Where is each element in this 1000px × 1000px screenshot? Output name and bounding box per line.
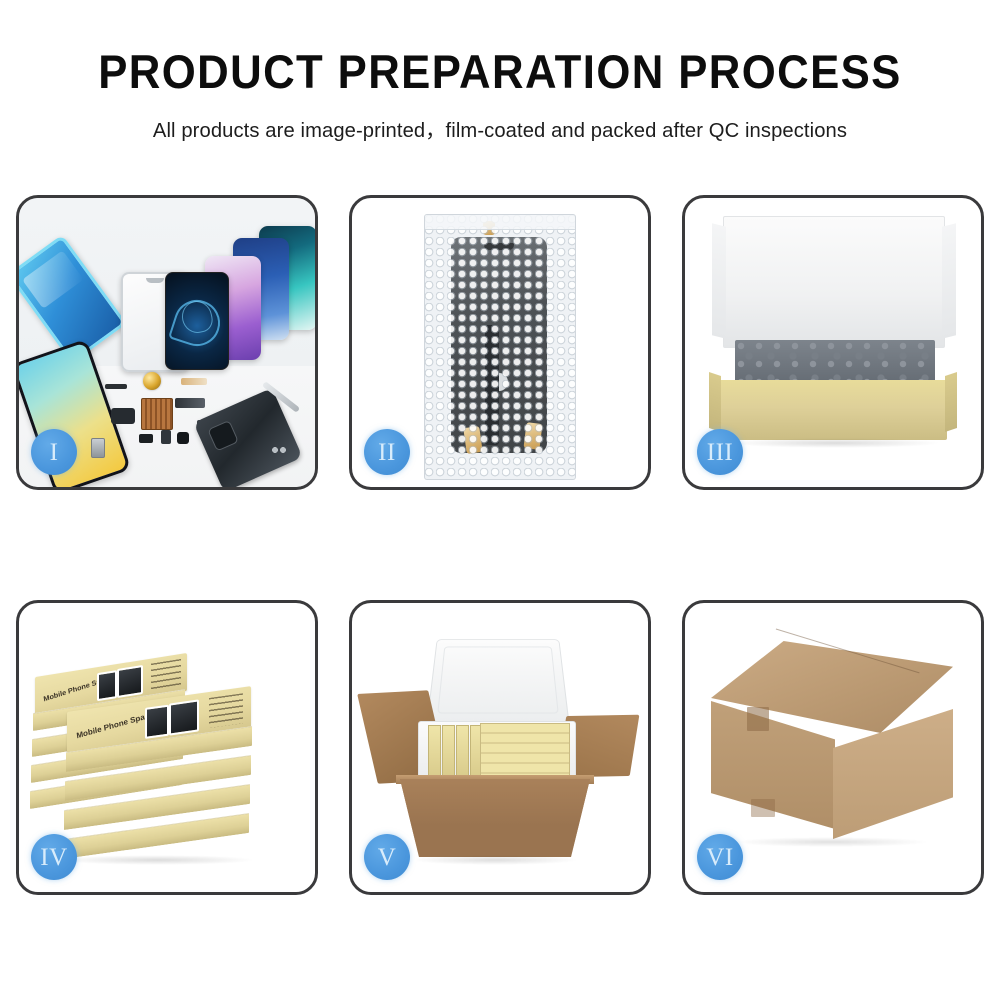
step-badge-4: IV xyxy=(31,834,77,880)
part-flex-cable-dark xyxy=(175,398,205,408)
yellow-box-1 xyxy=(428,725,441,781)
process-step-card-1[interactable]: I xyxy=(16,195,318,490)
process-step-card-3[interactable]: III xyxy=(682,195,984,490)
process-steps-grid: I II xyxy=(16,195,984,895)
box-shadow xyxy=(729,438,941,448)
process-step-card-5[interactable]: V xyxy=(349,600,651,895)
page-subtitle: All products are image-printed，film-coat… xyxy=(8,113,993,143)
box-checklist-lines-right xyxy=(209,693,243,728)
step-badge-6: VI xyxy=(697,834,743,880)
part-camera-module xyxy=(177,432,189,444)
bubble-texture xyxy=(425,215,575,479)
box-screen-image-c xyxy=(145,705,169,739)
page-title: PRODUCT PREPARATION PROCESS xyxy=(35,48,965,95)
process-step-card-4[interactable]: Mobile Phone Spare Parts Mobile Phone Sp… xyxy=(16,600,318,895)
step-badge-1: I xyxy=(31,429,77,475)
page-header: PRODUCT PREPARATION PROCESS All products… xyxy=(0,0,1000,143)
step-badge-3: III xyxy=(697,429,743,475)
part-camera-ring xyxy=(143,372,161,390)
step-badge-5: V xyxy=(364,834,410,880)
yellow-box-3 xyxy=(456,725,469,781)
step-badge-2: II xyxy=(364,429,410,475)
carton-tape-lower xyxy=(751,799,775,817)
part-chip xyxy=(139,434,153,443)
box-screen-image-a xyxy=(97,670,117,701)
part-speaker-bar xyxy=(105,384,127,389)
part-copper-pcb-grid xyxy=(141,398,173,430)
bag-seal-strip xyxy=(425,215,575,230)
grey-foam-padding xyxy=(735,340,935,384)
part-screws xyxy=(271,446,287,454)
part-flex-connector xyxy=(111,408,135,424)
stack-shadow xyxy=(59,855,255,865)
yellow-box-2 xyxy=(442,725,455,781)
sealed-carton-shadow xyxy=(733,837,929,847)
part-sim-tray xyxy=(91,438,105,458)
yellow-box-row xyxy=(480,723,570,783)
product-preparation-page: PRODUCT PREPARATION PROCESS All products… xyxy=(0,0,1000,1000)
foam-lid-open xyxy=(427,639,570,723)
carton-tape-upper xyxy=(747,707,769,731)
black-display-phone xyxy=(165,272,229,370)
carton-right-panel xyxy=(833,709,953,839)
process-step-card-6[interactable]: VI xyxy=(682,600,984,895)
kraft-box-base xyxy=(719,380,947,440)
carton-front-panel xyxy=(400,779,590,857)
box-checklist-lines-left xyxy=(151,659,181,690)
box-screen-image-d xyxy=(169,699,199,735)
bubble-wrap-bag xyxy=(424,214,576,480)
box-screen-image-b xyxy=(117,665,143,698)
process-step-card-2[interactable]: II xyxy=(349,195,651,490)
part-flex-cable-gold xyxy=(181,378,207,385)
part-connector xyxy=(161,430,171,444)
carton-shadow xyxy=(412,855,578,865)
box-lid-white xyxy=(723,216,945,348)
